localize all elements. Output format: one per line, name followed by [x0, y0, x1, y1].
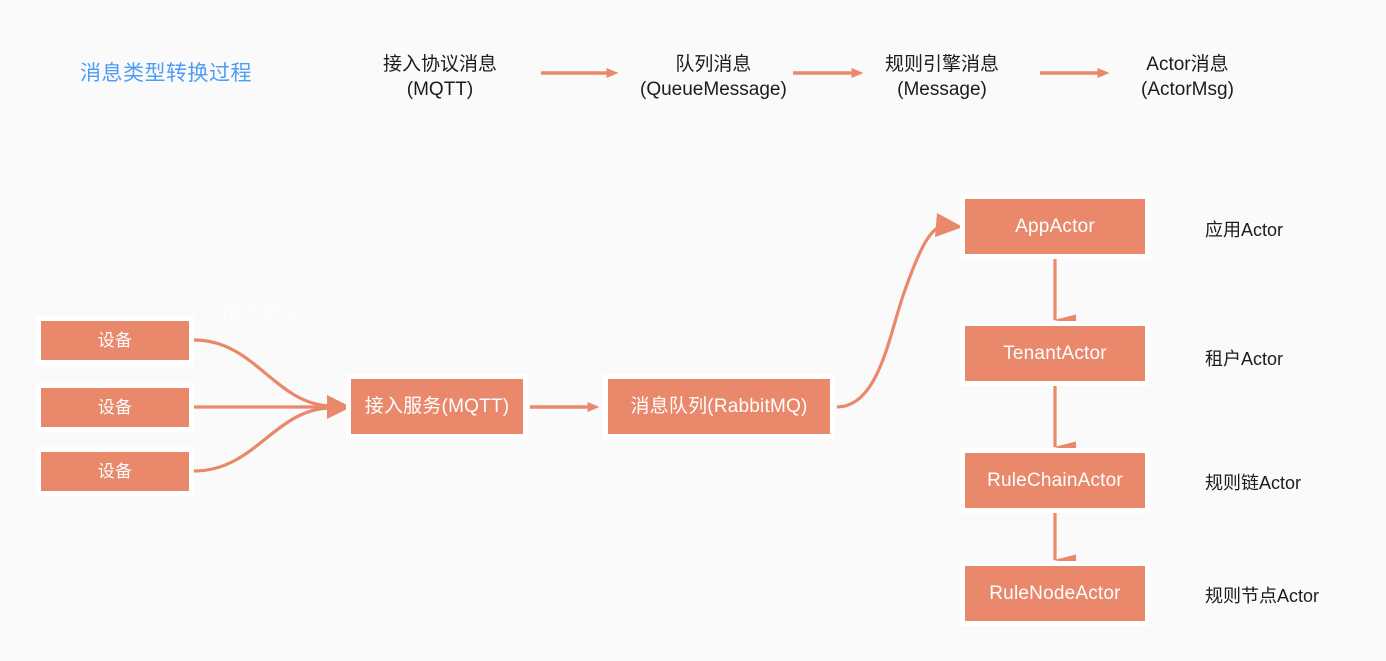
tenant-actor-annotation: 租户Actor — [1205, 350, 1283, 368]
queue-to-appactor-connector — [837, 224, 945, 407]
mqtt-transport-service-node[interactable]: 接入服务(MQTT) — [346, 374, 528, 439]
stage-label-zh: 规则引擎消息 — [885, 52, 999, 77]
rule-chain-actor-annotation: 规则链Actor — [1205, 474, 1301, 492]
device-node-3[interactable]: 设备 — [36, 447, 194, 496]
rule-node-actor-annotation: 规则节点Actor — [1205, 587, 1319, 605]
stage-label-zh: 接入协议消息 — [383, 52, 497, 77]
stage-label-zh: Actor消息 — [1141, 52, 1234, 77]
device-node-label: 设备 — [98, 399, 132, 416]
stage-label-en: (QueueMessage) — [640, 77, 787, 102]
device-node-label: 设备 — [98, 332, 132, 349]
actor-node-label: TenantActor — [1003, 344, 1107, 363]
diagram-title: 消息类型转换过程 — [80, 57, 252, 87]
service-node-label: 接入服务(MQTT) — [365, 397, 509, 416]
message-flow-stage-mqtt: 接入协议消息 (MQTT) — [383, 52, 497, 102]
message-flow-stage-queuemessage: 队列消息 (QueueMessage) — [640, 52, 787, 102]
rule-chain-actor-node[interactable]: RuleChainActor — [960, 448, 1150, 513]
actor-node-label: RuleChainActor — [987, 471, 1123, 490]
tenant-actor-node[interactable]: TenantActor — [960, 321, 1150, 386]
device-node-label: 设备 — [98, 463, 132, 480]
app-actor-annotation: 应用Actor — [1205, 221, 1283, 239]
actor-node-label: AppActor — [1015, 217, 1095, 236]
stage-label-en: (MQTT) — [383, 77, 497, 102]
device-node-2[interactable]: 设备 — [36, 383, 194, 432]
queue-to-appactor-arrowhead — [935, 213, 963, 237]
stage-label-en: (Message) — [885, 77, 999, 102]
device-3-connector — [194, 408, 330, 471]
app-actor-node[interactable]: AppActor — [960, 194, 1150, 259]
diagram-canvas: 消息类型转换过程 接入协议消息 (MQTT) 队列消息 (QueueMessag… — [0, 0, 1386, 661]
device-node-1[interactable]: 设备 — [36, 316, 194, 365]
device-1-connector — [194, 340, 330, 406]
stage-label-en: (ActorMsg) — [1141, 77, 1234, 102]
protocol-watermark-label: 接入协议 — [221, 295, 301, 324]
stage-label-zh: 队列消息 — [640, 52, 787, 77]
device-connector-group — [194, 340, 330, 471]
message-flow-stage-message: 规则引擎消息 (Message) — [885, 52, 999, 102]
actor-node-label: RuleNodeActor — [989, 584, 1120, 603]
message-queue-node[interactable]: 消息队列(RabbitMQ) — [603, 374, 835, 439]
message-flow-stage-actormsg: Actor消息 (ActorMsg) — [1141, 52, 1234, 102]
rule-node-actor-node[interactable]: RuleNodeActor — [960, 561, 1150, 626]
service-node-label: 消息队列(RabbitMQ) — [631, 397, 808, 416]
